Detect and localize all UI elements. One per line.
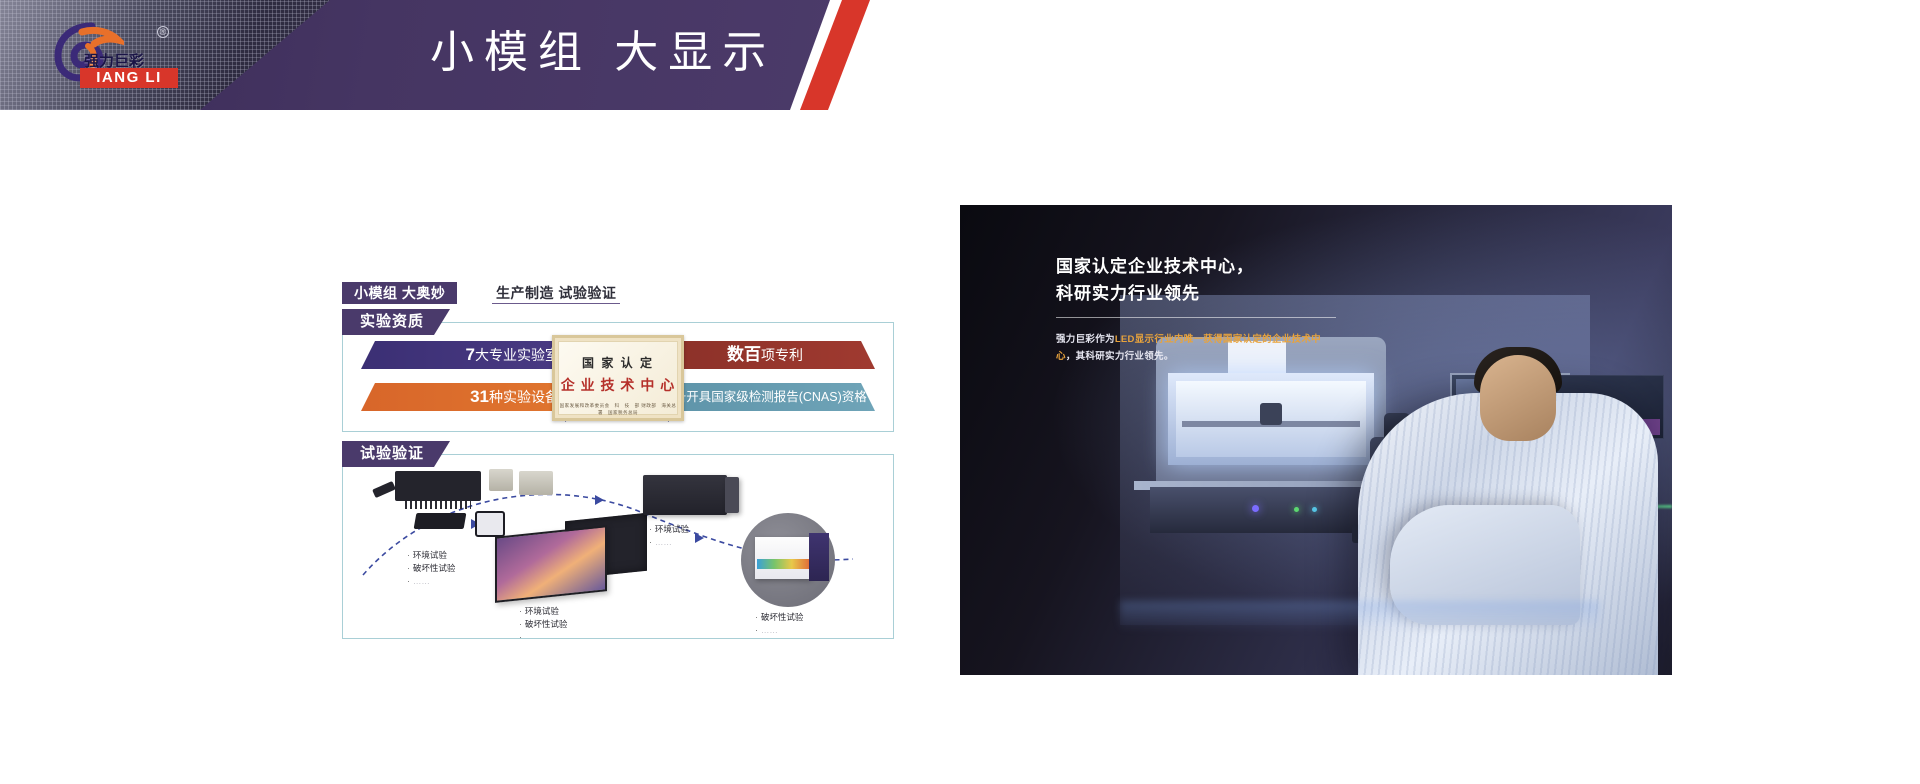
photo-description: 强力巨彩作为LED显示行业内唯一获得国家认定的企业技术中心，其科研实力行业领先。 — [1056, 331, 1338, 365]
stage-label-components: ·环境试验 ·破坏性试验 ·…… — [407, 549, 455, 588]
photo-headline-line1: 国家认定企业技术中心， — [1056, 253, 1254, 280]
packaging-carton — [755, 537, 811, 579]
component-led-package — [475, 511, 505, 537]
stage-label-module: ·环境试验 ·破坏性试验 ·…… — [519, 605, 567, 638]
registered-mark-icon: ® — [157, 26, 169, 38]
stage-label-packaging: ·破坏性试验 ·…… — [755, 611, 803, 637]
ribbon-patents: 数百项专利 — [655, 341, 875, 369]
brand-logo[interactable]: ® 强力巨彩 IANG LI — [52, 20, 182, 92]
logo-latin-name: IANG LI — [80, 68, 178, 88]
page-title: 小模组 大显示 — [430, 22, 776, 84]
photo-description-pre: 强力巨彩作为 — [1056, 334, 1115, 345]
ribbon-labs-number: 7 — [466, 345, 475, 364]
ribbon-labs-text: 大专业实验室 — [475, 347, 559, 363]
stage-label-cabinet: ·环境试验 ·…… — [649, 523, 689, 549]
photo-divider — [1056, 317, 1336, 318]
photo-machine-head — [1260, 403, 1282, 425]
ribbon-equipment-number: 31 — [470, 387, 489, 406]
breadcrumb-badge: 小模组 大奥妙 — [342, 282, 457, 304]
component-ic — [414, 513, 467, 529]
photo-floor-glow — [1120, 601, 1600, 631]
ribbon-cnas: 具备开具国家级检测报告(CNAS)资格 — [653, 383, 875, 411]
ribbon-patents-text: 项专利 — [761, 347, 803, 363]
photo-description-post: ，其科研实力行业领先。 — [1066, 351, 1174, 362]
ribbon-equipment-text: 种实验设备 — [489, 389, 559, 405]
certificate-plaque: 国 家 认 定 企 业 技 术 中 心 国家发展和改革委员会 科 技 部 财政部… — [552, 335, 684, 421]
photo-indicator-led-green — [1294, 507, 1299, 512]
module-display — [495, 525, 607, 603]
packaging-color-strip — [757, 559, 809, 569]
ribbon-patents-number: 数百 — [727, 345, 761, 364]
certificate-line1: 国 家 认 定 — [559, 354, 677, 371]
ribbon-labs: 7大专业实验室 — [361, 341, 581, 369]
breadcrumb-steps: 生产制造 试验验证 — [492, 282, 620, 304]
breadcrumb: 小模组 大奥妙 生产制造 试验验证 — [342, 282, 894, 304]
ribbon-cnas-text: 具备开具国家级检测报告(CNAS)资格 — [661, 390, 867, 404]
left-content-column: 小模组 大奥妙 生产制造 试验验证 实验资质 7大专业实验室 31种实验设备 数… — [342, 282, 894, 639]
photo-headline-line2: 科研实力行业领先 — [1056, 280, 1254, 307]
certificate-line3: 国家发展和改革委员会 科 技 部 财政部 海关总署 国家税务总局 — [559, 402, 677, 416]
photo-indicator-led-cyan — [1312, 507, 1317, 512]
component-socket-b — [519, 471, 553, 495]
cabinet-unit — [643, 475, 727, 515]
qualifications-panel: 实验资质 7大专业实验室 31种实验设备 数百项专利 具备开具国家级检测报告(C… — [342, 322, 894, 432]
packaging-carton-side — [809, 533, 829, 581]
verification-heading: 试验验证 — [342, 441, 450, 467]
component-socket-a — [489, 469, 513, 491]
component-connector-large — [395, 471, 481, 501]
header-banner: ® 强力巨彩 IANG LI 小模组 大显示 — [0, 0, 870, 110]
cabinet-unit-side — [725, 477, 739, 513]
verification-panel: 试验验证 ·环境试验 ·破坏性试验 — [342, 454, 894, 639]
ribbon-equipment: 31种实验设备 — [361, 383, 581, 411]
qualifications-heading: 实验资质 — [342, 309, 450, 335]
certificate-line2: 企 业 技 术 中 心 — [559, 375, 677, 395]
photo-indicator-led-purple — [1252, 505, 1259, 512]
photo-technician-head — [1480, 355, 1556, 441]
poster-page: ® 强力巨彩 IANG LI 小模组 大显示 小模组 大奥妙 生产制造 试验验证… — [0, 0, 1920, 784]
photo-headline: 国家认定企业技术中心， 科研实力行业领先 — [1056, 253, 1254, 307]
lab-photo-card: 厦门强力巨彩 国家认定企业技术中心， 科研实力行业领先 强力巨彩作为LED显示行… — [960, 205, 1672, 675]
